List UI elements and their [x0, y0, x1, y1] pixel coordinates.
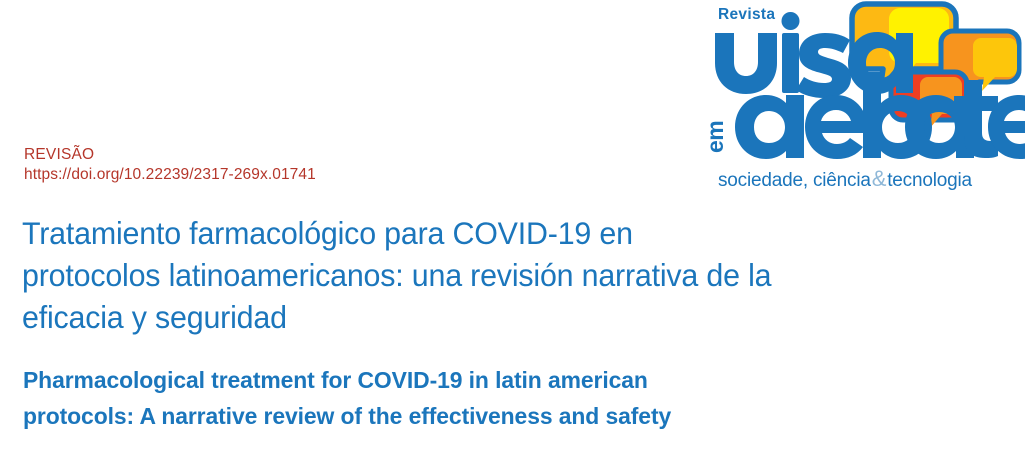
logo-tagline-ampersand: &	[872, 166, 887, 191]
title-es-line-2: protocolos latinoamericanos: una revisió…	[22, 254, 948, 296]
section-label: REVISÃO	[24, 145, 664, 164]
article-title-en: Pharmacological treatment for COVID-19 i…	[23, 362, 983, 434]
logo-word-em: em	[702, 121, 728, 153]
logo-tagline-part2: tecnologia	[887, 170, 972, 191]
logo-word-debate	[735, 72, 1025, 159]
journal-logo-graphic: Revista em	[700, 0, 1025, 200]
title-en-line-1: Pharmacological treatment for COVID-19 i…	[23, 362, 959, 398]
journal-logo: Revista em	[700, 0, 1025, 200]
logo-prefix-text: Revista	[718, 6, 775, 23]
logo-tagline: sociedade, ciência&tecnologia	[718, 166, 972, 191]
title-en-line-2: protocols: A narrative review of the eff…	[23, 398, 959, 434]
title-es-line-3: eficacia y seguridad	[22, 296, 948, 338]
article-meta: REVISÃO https://doi.org/10.22239/2317-26…	[24, 145, 664, 186]
doi-link[interactable]: https://doi.org/10.22239/2317-269x.01741	[24, 164, 664, 186]
article-title-es: Tratamiento farmacológico para COVID-19 …	[22, 212, 982, 338]
title-es-line-1: Tratamiento farmacológico para COVID-19 …	[22, 212, 948, 254]
logo-tagline-part1: sociedade, ciência	[718, 170, 871, 191]
page-canvas: Revista em	[0, 0, 1025, 476]
